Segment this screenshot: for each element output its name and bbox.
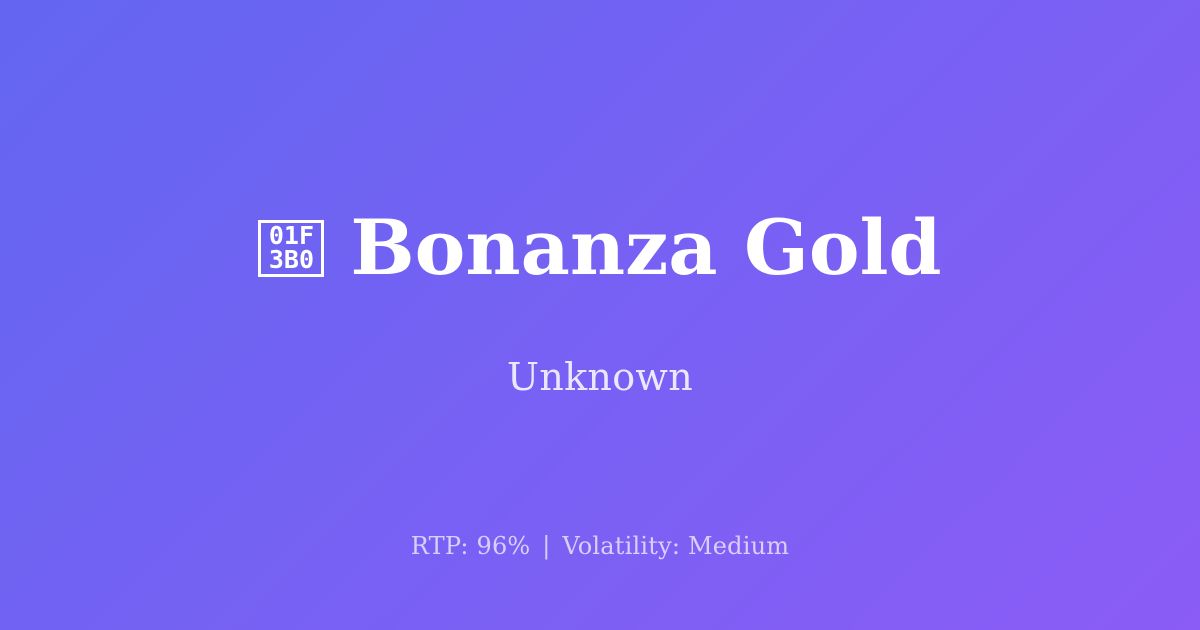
title-row: 01F 3B0 Bonanza Gold	[258, 210, 941, 286]
page-title: Bonanza Gold	[350, 210, 941, 286]
rtp-label: RTP:	[411, 532, 469, 560]
tofu-codepoint-line-2: 3B0	[269, 248, 314, 272]
rtp-value: 96%	[476, 532, 530, 560]
og-share-card: 01F 3B0 Bonanza Gold Unknown RTP: 96% | …	[0, 0, 1200, 630]
volatility-value: Medium	[688, 532, 789, 560]
game-stats-line: RTP: 96% | Volatility: Medium	[0, 534, 1200, 558]
game-provider-subtitle: Unknown	[507, 358, 693, 396]
volatility-label: Volatility:	[562, 532, 680, 560]
slot-machine-icon: 01F 3B0	[258, 220, 324, 277]
stats-separator: |	[538, 532, 554, 560]
